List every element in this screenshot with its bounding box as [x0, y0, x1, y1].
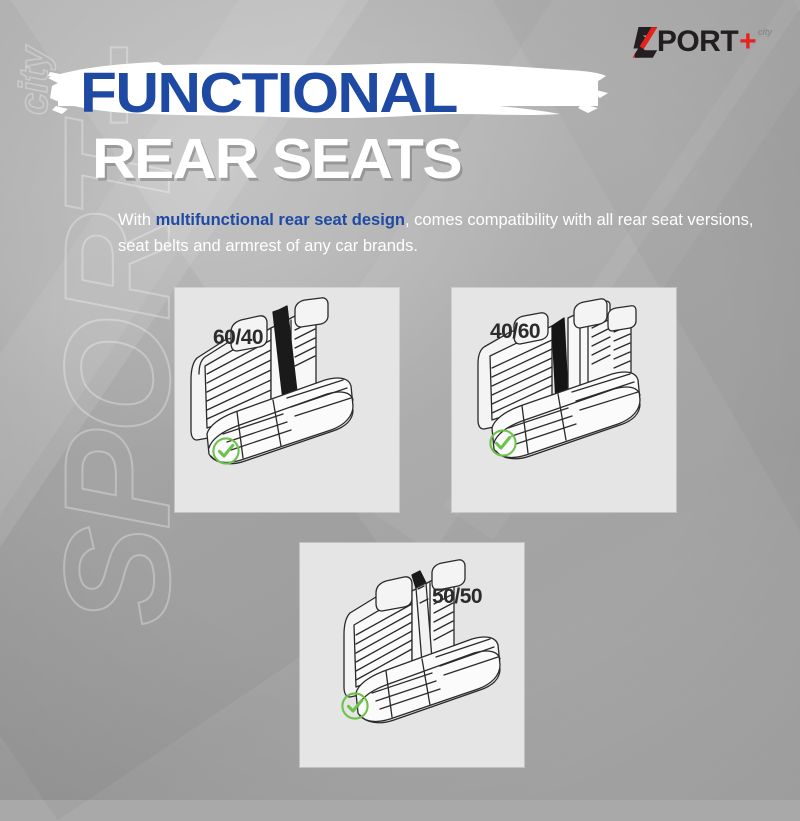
seat-panel-50-50[interactable]: 50/50 [300, 543, 524, 767]
seat-panel-60-40[interactable]: 60/40 [175, 288, 399, 512]
rear-seat-50-50-illustration [300, 543, 524, 767]
body-copy-emphasis: multifunctional rear seat design [156, 211, 405, 229]
seat-panel-40-60[interactable]: 40/60 [452, 288, 676, 512]
brand-logo: PORT + city [632, 27, 772, 57]
headline-line1: FUNCTIONAL [80, 58, 800, 122]
stylized-s-slash-icon [632, 27, 658, 57]
green-check-circle-icon [211, 436, 241, 471]
rear-seat-60-40-illustration [175, 288, 399, 512]
logo-wordmark: PORT [657, 27, 738, 57]
headline-block: FUNCTIONAL REAR SEATS [0, 58, 800, 188]
panel-label-50-50: 50/50 [432, 585, 482, 609]
body-copy: With multifunctional rear seat design, c… [118, 207, 758, 259]
green-check-circle-icon [340, 691, 370, 726]
headline-line2: REAR SEATS [92, 130, 800, 188]
logo-plus-icon: + [739, 27, 757, 57]
rear-seat-40-60-illustration [452, 288, 676, 512]
panel-label-40-60: 40/60 [490, 320, 540, 344]
body-copy-part1: With [118, 211, 156, 229]
green-check-circle-icon [488, 428, 518, 463]
logo-city-label: city [758, 28, 772, 37]
headline-line1-wrapper: FUNCTIONAL [0, 58, 800, 128]
panel-label-60-40: 60/40 [213, 326, 263, 350]
